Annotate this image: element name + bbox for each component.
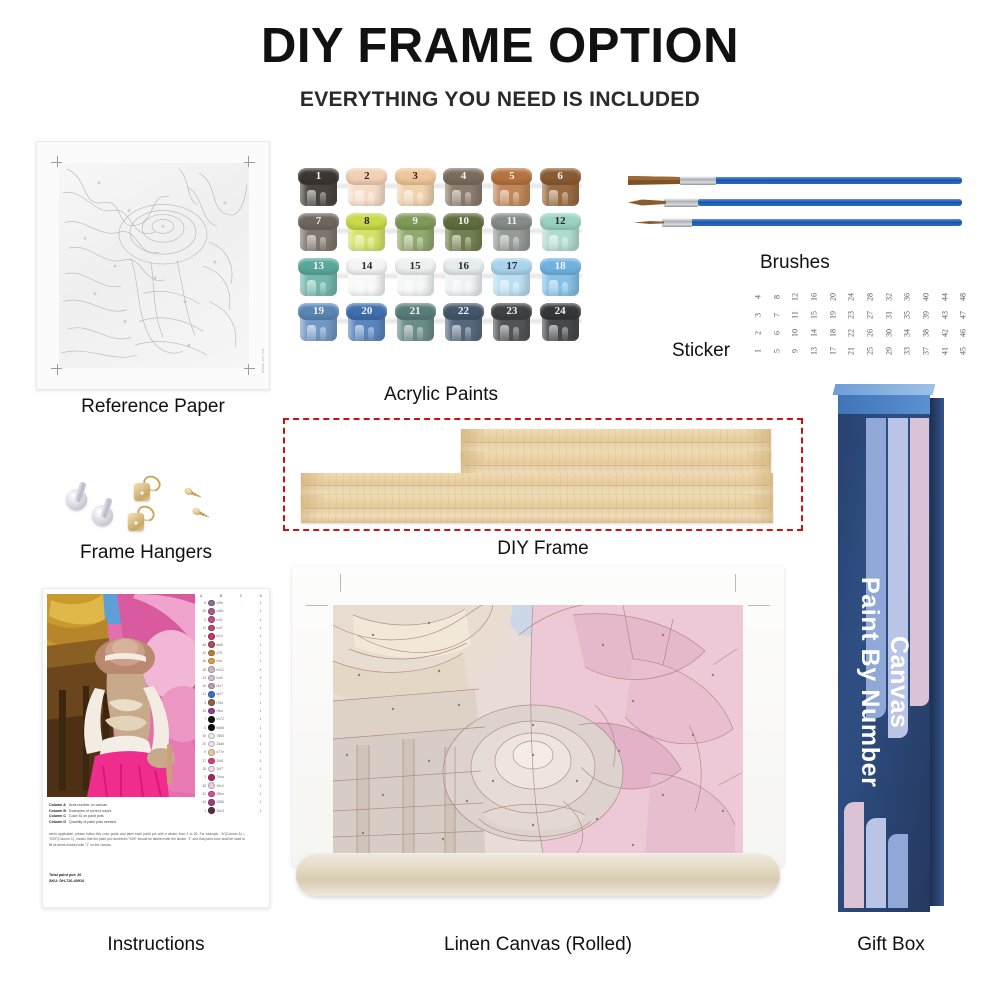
legend-row: 21fq071 xyxy=(197,690,265,698)
legend-quantity: 1 xyxy=(258,726,263,730)
paint-pot-highlight xyxy=(513,192,519,206)
legend-area-number: 45 xyxy=(199,609,206,613)
diy-frame-item xyxy=(283,418,803,531)
reference-paper-artwork xyxy=(59,163,249,368)
legend-row: 37hsa1 xyxy=(197,773,265,781)
sticker-number[interactable]: 11 xyxy=(786,306,804,325)
legend-color-code: d77e xyxy=(217,750,257,754)
canvas-line-art-icon xyxy=(333,605,743,853)
sticker-number[interactable]: 33 xyxy=(898,342,916,361)
legend-color-code: 2b03 xyxy=(217,809,257,813)
legend-color-code: hw9 xyxy=(217,676,257,680)
paint-pot[interactable]: 12 xyxy=(540,213,581,253)
sticker-number[interactable]: 46 xyxy=(954,324,972,343)
sticker-number[interactable]: 39 xyxy=(916,306,934,325)
reference-line-art-icon xyxy=(59,163,249,368)
sticker-number[interactable]: 21 xyxy=(842,342,860,361)
sticker-number[interactable]: 48 xyxy=(954,288,972,307)
paint-pot-number: 24 xyxy=(540,303,581,320)
instruction-column-desc: Color ID on paint pots xyxy=(69,814,104,818)
paint-pot-highlight xyxy=(368,237,374,251)
legend-color-swatch xyxy=(208,600,215,607)
wall-hook-icon xyxy=(92,498,117,526)
paint-pot[interactable]: 1 xyxy=(298,168,339,208)
paint-pot-number: 16 xyxy=(443,258,484,275)
paint-pot-highlight xyxy=(562,282,568,296)
instruction-column-desc: Examples of correct colors xyxy=(69,809,111,813)
paint-pot-number: 19 xyxy=(298,303,339,320)
sticker-number[interactable]: 36 xyxy=(898,288,916,307)
gift-box-panel xyxy=(866,818,886,908)
paint-pot-number: 4 xyxy=(443,168,484,185)
legend-color-swatch xyxy=(208,666,215,673)
brushes-item xyxy=(622,172,962,244)
legend-row: 15r9uu1 xyxy=(197,707,265,715)
paint-pot-row: 131415161718 xyxy=(296,258,586,298)
paint-pot-highlight xyxy=(549,280,558,297)
legend-color-code: r9uu xyxy=(217,709,257,713)
paint-pot-highlight xyxy=(355,190,364,207)
legend-color-swatch xyxy=(208,658,215,665)
paint-pot-highlight xyxy=(562,192,568,206)
sticker-number[interactable]: 43 xyxy=(935,306,953,325)
caption-linen-canvas: Linen Canvas (Rolled) xyxy=(292,934,784,956)
sticker-number[interactable]: 31 xyxy=(879,306,897,325)
legend-row: 6ki101 xyxy=(197,632,265,640)
paint-pot-number: 11 xyxy=(491,213,532,230)
legend-color-swatch xyxy=(208,724,215,731)
legend-color-code: 7855 xyxy=(217,734,257,738)
paint-pot-number: 23 xyxy=(491,303,532,320)
legend-color-swatch xyxy=(208,641,215,648)
paint-pot[interactable]: 21 xyxy=(395,303,436,343)
instruction-column-desc: Quantity of paint pots needed xyxy=(69,820,116,824)
instruction-column-label: Column A xyxy=(49,803,66,807)
legend-color-code: 7hsa xyxy=(217,775,257,779)
legend-quantity: 1 xyxy=(258,609,263,613)
instruction-column-row: Column D Quantity of paint pots needed xyxy=(49,820,209,826)
legend-quantity: 1 xyxy=(258,742,263,746)
instruction-column-label: Column C xyxy=(49,814,66,818)
gift-box-label-line1: Canvas xyxy=(885,636,913,729)
sticker-number[interactable]: 8 xyxy=(767,288,785,307)
legend-quantity: 1 xyxy=(258,800,263,804)
paint-pot-row: 789101112 xyxy=(296,213,586,253)
paint-pot-highlight xyxy=(452,190,461,207)
sticker-number[interactable]: 10 xyxy=(786,324,804,343)
paint-pot-number: 14 xyxy=(346,258,387,275)
sticker-number[interactable]: 3 xyxy=(748,306,766,325)
canvas-crop-mark-icon xyxy=(735,574,736,592)
legend-quantity: 1 xyxy=(258,643,263,647)
legend-color-swatch xyxy=(208,699,215,706)
sticker-number[interactable]: 13 xyxy=(804,342,822,361)
paint-pot-highlight xyxy=(404,190,413,207)
legend-row: 16t3u71 xyxy=(197,682,265,690)
paint-pot-number: 8 xyxy=(346,213,387,230)
canvas-numbered-print xyxy=(333,605,743,853)
sticker-number[interactable]: 18 xyxy=(823,324,841,343)
instruction-column-desc: Area number on canvas xyxy=(69,803,107,807)
legend-area-number: 46 xyxy=(199,659,206,663)
paint-pot[interactable]: 5 xyxy=(491,168,532,208)
legend-row: 45cd811 xyxy=(197,607,265,615)
paint-pot-number: 7 xyxy=(298,213,339,230)
canvas-sheet xyxy=(292,566,784,866)
paint-pot-highlight xyxy=(368,192,374,206)
paint-pot[interactable]: 14 xyxy=(346,258,387,298)
legend-row: 5h6681 xyxy=(197,723,265,731)
paint-pot-number: 9 xyxy=(395,213,436,230)
instructions-painting-icon xyxy=(47,594,195,797)
sticker-number[interactable]: 1 xyxy=(748,342,766,361)
legend-color-swatch xyxy=(208,791,215,798)
legend-area-number: 3 xyxy=(199,775,206,779)
sticker-number[interactable]: 17 xyxy=(823,342,841,361)
legend-quantity: 1 xyxy=(258,634,263,638)
wall-hook-icon xyxy=(66,482,91,510)
paint-pot[interactable]: 16 xyxy=(443,258,484,298)
crop-mark-icon xyxy=(244,162,255,163)
legend-row: 9d77e1 xyxy=(197,748,265,756)
reference-paper-item: DH-720-40910 xyxy=(36,141,270,390)
page-subtitle: EVERYTHING YOU NEED IS INCLUDED xyxy=(0,88,1000,112)
paint-pot[interactable]: 7 xyxy=(298,213,339,253)
legend-area-number: 7 xyxy=(199,717,206,721)
legend-area-number: 5 xyxy=(199,726,206,730)
paint-pot-highlight xyxy=(549,235,558,252)
legend-color-swatch xyxy=(208,741,215,748)
paint-pot[interactable]: 18 xyxy=(540,258,581,298)
paint-pot[interactable]: 17 xyxy=(491,258,532,298)
paint-pot-highlight xyxy=(320,282,326,296)
legend-color-code: t76d xyxy=(217,701,257,705)
sticker-number[interactable]: 47 xyxy=(954,306,972,325)
legend-color-code: 28hu xyxy=(217,792,257,796)
legend-area-number: 6 xyxy=(199,634,206,638)
sticker-number[interactable]: 4 xyxy=(748,288,766,307)
legend-quantity: 1 xyxy=(258,618,263,622)
legend-area-number: 2 xyxy=(199,618,206,622)
legend-area-number: 21 xyxy=(199,692,206,696)
sticker-number[interactable]: 26 xyxy=(860,324,878,343)
caption-brushes: Brushes xyxy=(760,252,830,274)
sticker-number[interactable]: 14 xyxy=(804,324,822,343)
paint-pot-highlight xyxy=(307,280,316,297)
brush-bristles-icon xyxy=(634,219,666,226)
instructions-artwork xyxy=(47,594,195,797)
brush-flat xyxy=(622,176,962,185)
header: DIY FRAME OPTION EVERYTHING YOU NEED IS … xyxy=(0,0,1000,112)
legend-row: 46h0u1 xyxy=(197,657,265,665)
legend-color-swatch xyxy=(208,683,215,690)
caption-frame-hangers: Frame Hangers xyxy=(46,542,246,564)
instructions-footer: Total paint pot: 26 SKU: DH-720-40910 xyxy=(49,872,84,885)
legend-area-number: 17 xyxy=(199,759,206,763)
sticker-number[interactable]: 2 xyxy=(748,324,766,343)
sticker-number[interactable]: 20 xyxy=(823,288,841,307)
gift-box-label-line2: Paint By Number xyxy=(856,577,884,787)
legend-color-swatch xyxy=(208,633,215,640)
paint-pot-highlight xyxy=(355,235,364,252)
legend-quantity: 1 xyxy=(258,659,263,663)
legend-color-swatch xyxy=(208,608,215,615)
legend-color-swatch xyxy=(208,708,215,715)
legend-quantity: 4 xyxy=(258,668,263,672)
sticker-sheet-item: 4812162024283236404448371115192327313539… xyxy=(748,288,972,360)
caption-acrylic-paints: Acrylic Paints xyxy=(296,384,586,406)
paint-pot[interactable]: 19 xyxy=(298,303,339,343)
paint-pot-highlight xyxy=(320,327,326,341)
legend-area-number: 4 xyxy=(199,701,206,705)
legend-quantity: 1 xyxy=(258,759,263,763)
instruction-column-label: Column D xyxy=(49,820,66,824)
paint-pot-highlight xyxy=(513,282,519,296)
legend-row: 3228hu1 xyxy=(197,790,265,798)
brush-round-medium xyxy=(622,198,962,207)
sticker-number[interactable]: 28 xyxy=(860,288,878,307)
caption-sticker: Sticker xyxy=(672,340,730,362)
sticker-number[interactable]: 29 xyxy=(879,342,897,361)
sticker-number[interactable]: 15 xyxy=(804,306,822,325)
paint-pot-highlight xyxy=(513,327,519,341)
paint-pot-number: 1 xyxy=(298,168,339,185)
sticker-number[interactable]: 42 xyxy=(935,324,953,343)
paint-pot-highlight xyxy=(404,235,413,252)
paint-pot-highlight xyxy=(368,282,374,296)
legend-row: 48akt61 xyxy=(197,640,265,648)
sticker-number[interactable]: 38 xyxy=(916,324,934,343)
acrylic-paints-item: 123456789101112131415161718192021222324 xyxy=(296,168,586,348)
paint-pot-highlight xyxy=(320,192,326,206)
legend-row: 3078551 xyxy=(197,732,265,740)
legend-row: 10z791 xyxy=(197,649,265,657)
legend-color-code: akt6 xyxy=(217,643,257,647)
legend-color-code: 25a8 xyxy=(217,742,257,746)
legend-area-number: 10 xyxy=(199,651,206,655)
sticker-number[interactable]: 41 xyxy=(935,342,953,361)
paint-pot-highlight xyxy=(404,280,413,297)
legend-quantity: 1 xyxy=(258,775,263,779)
paint-pot-number: 21 xyxy=(395,303,436,320)
paint-pot[interactable]: 13 xyxy=(298,258,339,298)
legend-quantity: 1 xyxy=(258,792,263,796)
paint-pot[interactable]: 9 xyxy=(395,213,436,253)
page-title: DIY FRAME OPTION xyxy=(0,22,1000,71)
legend-quantity: 1 xyxy=(258,626,263,630)
sticker-number[interactable]: 25 xyxy=(860,342,878,361)
paint-pot-number: 3 xyxy=(395,168,436,185)
legend-row: 28h0214 xyxy=(197,665,265,673)
paint-pot-highlight xyxy=(465,327,471,341)
legend-row: 4t76d1 xyxy=(197,699,265,707)
sticker-number[interactable]: 30 xyxy=(879,324,897,343)
legend-quantity: 1 xyxy=(258,684,263,688)
legend-quantity: 1 xyxy=(258,784,263,788)
sticker-number[interactable]: 32 xyxy=(879,288,897,307)
legend-row: 2025a81 xyxy=(197,740,265,748)
paint-pot-number: 10 xyxy=(443,213,484,230)
legend-color-code: 26c0 xyxy=(217,784,257,788)
frame-hangers-item xyxy=(62,472,232,544)
legend-color-code: z79 xyxy=(217,651,257,655)
paint-pot-highlight xyxy=(417,237,423,251)
legend-quantity: 1 xyxy=(258,734,263,738)
paint-pot-row: 192021222324 xyxy=(296,303,586,343)
legend-area-number: 9 xyxy=(199,750,206,754)
paint-pot-highlight xyxy=(465,192,471,206)
paint-pot-highlight xyxy=(549,325,558,342)
legend-color-swatch xyxy=(208,766,215,773)
sticker-number[interactable]: 45 xyxy=(954,342,972,361)
legend-color-code: h0u xyxy=(217,659,257,663)
paint-pot-highlight xyxy=(368,327,374,341)
sticker-number[interactable]: 12 xyxy=(786,288,804,307)
caption-diy-frame: DIY Frame xyxy=(283,538,803,560)
sticker-number[interactable]: 37 xyxy=(916,342,934,361)
sticker-number[interactable]: 35 xyxy=(898,306,916,325)
sticker-number[interactable]: 44 xyxy=(935,288,953,307)
paint-pot-number: 15 xyxy=(395,258,436,275)
paint-pot[interactable]: 6 xyxy=(540,168,581,208)
legend-quantity: 1 xyxy=(258,651,263,655)
legend-quantity: 1 xyxy=(258,709,263,713)
paint-pot-highlight xyxy=(465,282,471,296)
paint-pot-highlight xyxy=(549,190,558,207)
paint-pot-highlight xyxy=(465,237,471,251)
legend-quantity: 1 xyxy=(258,767,263,771)
canvas-crop-mark-icon xyxy=(748,605,770,606)
sticker-number[interactable]: 19 xyxy=(823,306,841,325)
gift-box-top-band xyxy=(838,392,930,414)
caption-instructions: Instructions xyxy=(42,934,270,956)
legend-color-swatch xyxy=(208,782,215,789)
paint-pot-highlight xyxy=(513,237,519,251)
legend-quantity: 1 xyxy=(258,809,263,813)
brush-bristles-icon xyxy=(628,175,684,186)
legend-quantity: 1 xyxy=(258,601,263,605)
paint-pot-highlight xyxy=(452,235,461,252)
paint-pot-number: 17 xyxy=(491,258,532,275)
paint-pot-highlight xyxy=(417,282,423,296)
legend-header-cell: D xyxy=(260,594,262,598)
sticker-number[interactable]: 40 xyxy=(916,288,934,307)
legend-area-number: 18 xyxy=(199,767,206,771)
paint-pot-number: 20 xyxy=(346,303,387,320)
canvas-crop-mark-icon xyxy=(340,574,341,592)
linen-canvas-item xyxy=(292,566,784,918)
sticker-number[interactable]: 22 xyxy=(842,324,860,343)
sticker-number[interactable]: 34 xyxy=(898,324,916,343)
paint-pot-highlight xyxy=(562,327,568,341)
legend-color-code: ki10 xyxy=(217,634,257,638)
legend-color-code: lud7 xyxy=(217,626,257,630)
legend-quantity: 1 xyxy=(258,750,263,754)
sticker-number[interactable]: 9 xyxy=(786,342,804,361)
stretcher-bar xyxy=(301,495,773,523)
sticker-number[interactable]: 23 xyxy=(842,306,860,325)
legend-quantity: 1 xyxy=(258,701,263,705)
crop-mark-icon xyxy=(57,156,58,167)
legend-header-cell: C xyxy=(240,594,242,598)
canvas-rolled-edge xyxy=(296,854,780,896)
sticker-number[interactable]: 5 xyxy=(767,342,785,361)
d-ring-hanger-icon xyxy=(128,506,155,531)
paint-pot[interactable]: 23 xyxy=(491,303,532,343)
legend-quantity: 3 xyxy=(258,676,263,680)
legend-color-swatch xyxy=(208,774,215,781)
legend-area-number: 23 xyxy=(199,676,206,680)
gift-box-lid xyxy=(833,384,936,395)
paint-pot[interactable]: 24 xyxy=(540,303,581,343)
gift-box-panel xyxy=(888,834,908,908)
paint-pot[interactable]: 3 xyxy=(395,168,436,208)
legend-color-swatch xyxy=(208,650,215,657)
sku-label: SKU: DH-720-40910 xyxy=(49,878,84,884)
paint-pot[interactable]: 2 xyxy=(346,168,387,208)
paint-pot-number: 12 xyxy=(540,213,581,230)
paint-pot[interactable]: 20 xyxy=(346,303,387,343)
paint-pot[interactable]: 4 xyxy=(443,168,484,208)
legend-area-number: 32 xyxy=(199,792,206,796)
paint-pot[interactable]: 8 xyxy=(346,213,387,253)
gift-box-side xyxy=(930,398,944,906)
sticker-number[interactable]: 27 xyxy=(860,306,878,325)
paint-pot-highlight xyxy=(307,190,316,207)
paint-pot-number: 5 xyxy=(491,168,532,185)
legend-area-number: 12 xyxy=(199,626,206,630)
paint-pot-highlight xyxy=(500,235,509,252)
instructions-paragraph: when applicable, please follow this colo… xyxy=(49,832,245,848)
legend-area-number: 30 xyxy=(199,734,206,738)
paint-pot[interactable]: 11 xyxy=(491,213,532,253)
legend-color-code: cd81 xyxy=(217,609,257,613)
sticker-number[interactable]: 16 xyxy=(804,288,822,307)
legend-row: 2lu511 xyxy=(197,616,265,624)
paint-pot[interactable]: 22 xyxy=(443,303,484,343)
d-ring-hanger-icon xyxy=(134,476,161,501)
paint-pot-highlight xyxy=(500,280,509,297)
gift-box-label: CanvasPaint By Number xyxy=(838,542,930,822)
paint-pot[interactable]: 10 xyxy=(443,213,484,253)
sticker-number[interactable]: 24 xyxy=(842,288,860,307)
paint-pot-highlight xyxy=(355,325,364,342)
legend-color-code: lu51 xyxy=(217,618,257,622)
legend-color-code: 2t97 xyxy=(217,767,257,771)
paint-pot-number: 22 xyxy=(443,303,484,320)
paint-pot[interactable]: 15 xyxy=(395,258,436,298)
legend-area-number: 8 xyxy=(199,601,206,605)
instructions-column-key: Column A Area number on canvasColumn B E… xyxy=(49,803,209,825)
legend-header-cell: B xyxy=(220,594,222,598)
paint-pot-number: 18 xyxy=(540,258,581,275)
legend-color-swatch xyxy=(208,675,215,682)
legend-row: 3826c01 xyxy=(197,782,265,790)
legend-quantity: 1 xyxy=(258,717,263,721)
crop-mark-icon xyxy=(57,364,58,375)
sticker-number[interactable]: 6 xyxy=(767,324,785,343)
legend-area-number: 28 xyxy=(199,668,206,672)
paint-pot-highlight xyxy=(500,325,509,342)
gift-box-item: CanvasPaint By Number xyxy=(832,382,950,918)
legend-color-code: h021 xyxy=(217,668,257,672)
paint-pot-highlight xyxy=(500,190,509,207)
screw-icon xyxy=(183,487,202,501)
sticker-number[interactable]: 7 xyxy=(767,306,785,325)
legend-color-code: 2585 xyxy=(217,800,257,804)
legend-color-code: c072 xyxy=(217,717,257,721)
instruction-column-label: Column B xyxy=(49,809,66,813)
